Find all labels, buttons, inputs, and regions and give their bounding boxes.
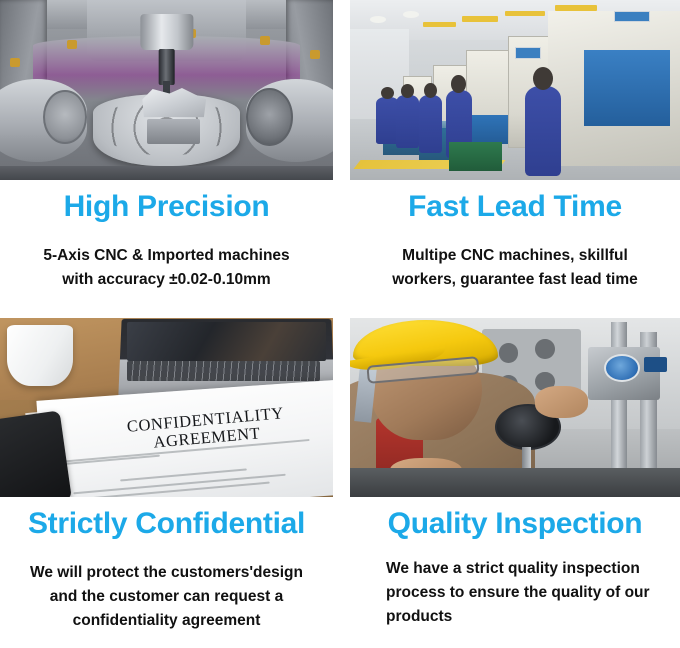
column-gutter-bottom: [333, 318, 350, 497]
feature-heading: High Precision: [0, 180, 333, 222]
feature-body-line: products: [386, 605, 672, 629]
feature-image-high-precision: [0, 0, 333, 180]
feature-body-line: confidentiality agreement: [14, 609, 319, 633]
feature-body-line: with accuracy ±0.02-0.10mm: [14, 268, 319, 292]
feature-body-line: 5-Axis CNC & Imported machines: [14, 244, 319, 268]
cnc-machine-photo: [0, 0, 333, 180]
feature-image-quality-inspection: [350, 318, 680, 497]
confidentiality-agreement-photo: CONFIDENTIALITY AGREEMENT: [0, 318, 333, 497]
feature-body: We will protect the customers'design and…: [0, 539, 333, 633]
feature-text-high-precision: High Precision 5-Axis CNC & Imported mac…: [0, 180, 333, 318]
feature-heading: Strictly Confidential: [0, 497, 333, 539]
workshop-photo: [350, 0, 680, 180]
quality-inspection-photo: [350, 318, 680, 497]
feature-body-line: and the customer can request a: [14, 585, 319, 609]
feature-body: 5-Axis CNC & Imported machines with accu…: [0, 222, 333, 292]
feature-body: We have a strict quality inspection proc…: [350, 539, 680, 629]
feature-text-strictly-confidential: Strictly Confidential We will protect th…: [0, 497, 333, 648]
column-gutter-text-top: [333, 180, 350, 318]
feature-text-quality-inspection: Quality Inspection We have a strict qual…: [350, 497, 680, 648]
feature-body-line: process to ensure the quality of our: [386, 581, 672, 605]
feature-body-line: workers, guarantee fast lead time: [364, 268, 666, 292]
feature-body-line: Multipe CNC machines, skillful: [364, 244, 666, 268]
feature-image-strictly-confidential: CONFIDENTIALITY AGREEMENT: [0, 318, 333, 497]
feature-body-line: We have a strict quality inspection: [386, 557, 672, 581]
feature-grid: High Precision 5-Axis CNC & Imported mac…: [0, 0, 680, 648]
feature-body: Multipe CNC machines, skillful workers, …: [350, 222, 680, 292]
column-gutter-text-bottom: [333, 497, 350, 648]
feature-heading: Fast Lead Time: [350, 180, 680, 222]
feature-image-fast-lead-time: [350, 0, 680, 180]
column-gutter-top: [333, 0, 350, 180]
feature-heading: Quality Inspection: [350, 497, 680, 539]
feature-body-line: We will protect the customers'design: [14, 561, 319, 585]
feature-text-fast-lead-time: Fast Lead Time Multipe CNC machines, ski…: [350, 180, 680, 318]
